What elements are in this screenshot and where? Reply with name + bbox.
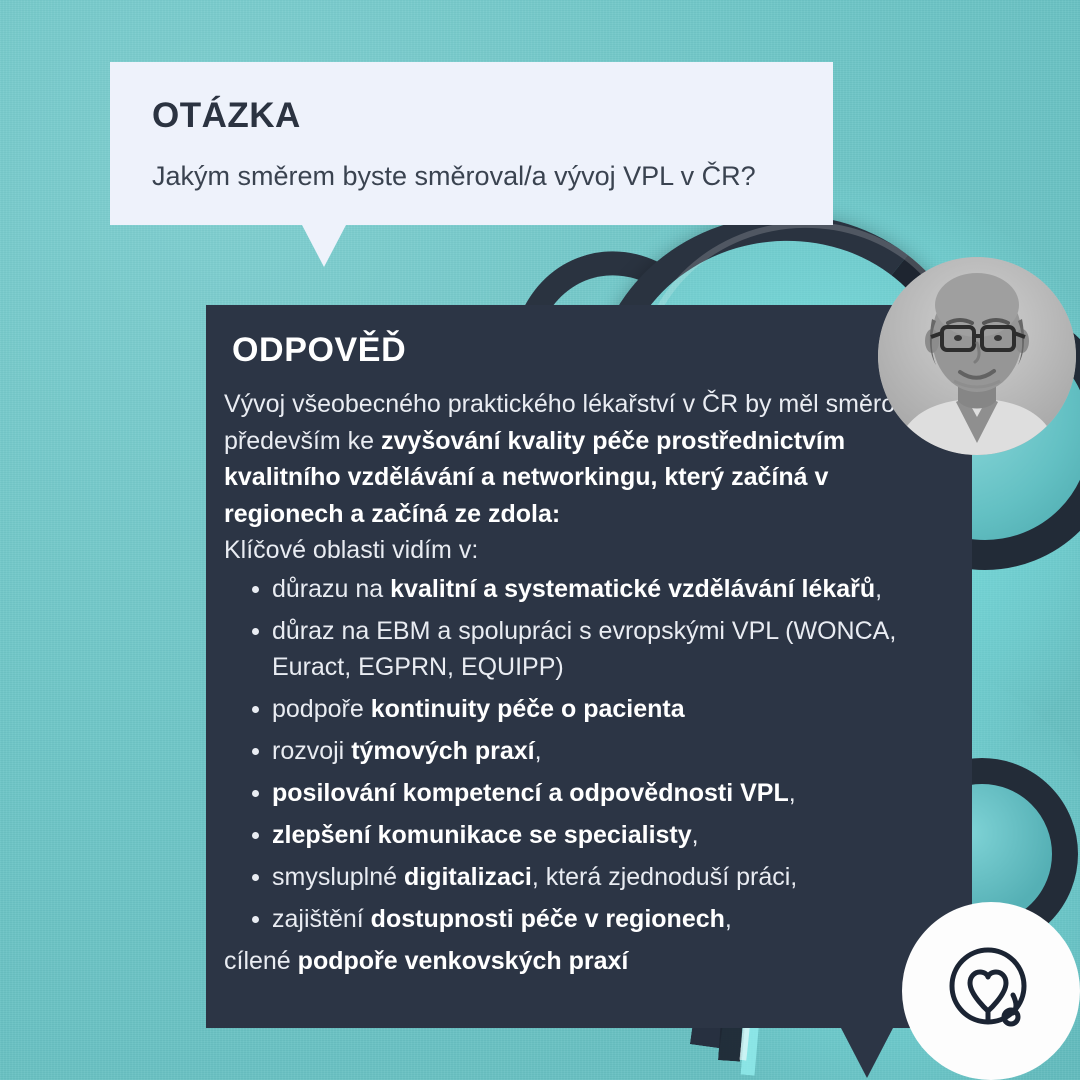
bullet-plain-after: ,: [692, 821, 699, 849]
answer-bubble-tail: [841, 1028, 893, 1078]
list-item: důrazu na kvalitní a systematické vzdělá…: [224, 571, 942, 607]
bullet-plain-before: rozvoji: [272, 737, 351, 765]
list-item: rozvoji týmových praxí,: [224, 733, 942, 769]
bullet-bold: týmových praxí: [351, 737, 534, 765]
bullet-bold: dostupnosti péče v regionech: [371, 905, 725, 933]
list-item: smysluplné digitalizaci, která zjednoduš…: [224, 859, 942, 895]
bullet-plain-before: podpoře: [272, 695, 371, 723]
bullet-bold: kontinuity péče o pacienta: [371, 695, 685, 723]
answer-lead-text: Klíčové oblasti vidím v:: [224, 532, 942, 569]
closing-bold: podpoře venkovských praxí: [298, 947, 629, 975]
bullet-plain-before: zajištění: [272, 905, 371, 933]
list-item: zajištění dostupnosti péče v regionech,: [224, 901, 942, 937]
avatar: [878, 257, 1076, 455]
bullet-plain-before: důraz na EBM a spolupráci s evropskými V…: [272, 617, 896, 681]
bullet-plain-after: ,: [725, 905, 732, 933]
question-text: Jakým směrem byste směroval/a vývoj VPL …: [152, 158, 793, 195]
question-bubble-tail: [302, 225, 346, 267]
bullet-bold: kvalitní a systematické vzdělávání lékař…: [390, 575, 875, 603]
closing-plain: cílené: [224, 947, 298, 975]
answer-body: Vývoj všeobecného praktického lékařství …: [218, 386, 942, 979]
answer-bubble: ODPOVĚĎ Vývoj všeobecného praktického lé…: [206, 305, 972, 1028]
bullet-plain-before: důrazu na: [272, 575, 390, 603]
bullet-plain-before: smysluplné: [272, 863, 404, 891]
answer-bullet-list: důrazu na kvalitní a systematické vzdělá…: [224, 571, 942, 937]
bullet-plain-after: ,: [789, 779, 796, 807]
question-title: OTÁZKA: [152, 96, 793, 136]
answer-closing-line: cílené podpoře venkovských praxí: [224, 943, 942, 979]
list-item: důraz na EBM a spolupráci s evropskými V…: [224, 613, 942, 685]
bullet-plain-after: ,: [535, 737, 542, 765]
bullet-bold: posilování kompetencí a odpovědnosti VPL: [272, 779, 789, 807]
poster-canvas: OTÁZKA Jakým směrem byste směroval/a výv…: [0, 0, 1080, 1080]
answer-title: ODPOVĚĎ: [232, 331, 942, 370]
logo-badge: [902, 902, 1080, 1080]
heart-stethoscope-icon: [939, 939, 1043, 1043]
bullet-bold: zlepšení komunikace se specialisty: [272, 821, 692, 849]
answer-intro-paragraph: Vývoj všeobecného praktického lékařství …: [224, 386, 942, 532]
bullet-plain-after: , která zjednoduší práci,: [532, 863, 797, 891]
question-bubble: OTÁZKA Jakým směrem byste směroval/a výv…: [110, 62, 833, 225]
list-item: podpoře kontinuity péče o pacienta: [224, 691, 942, 727]
list-item: posilování kompetencí a odpovědnosti VPL…: [224, 775, 942, 811]
bullet-bold: digitalizaci: [404, 863, 532, 891]
bullet-plain-after: ,: [875, 575, 882, 603]
list-item: zlepšení komunikace se specialisty,: [224, 817, 942, 853]
